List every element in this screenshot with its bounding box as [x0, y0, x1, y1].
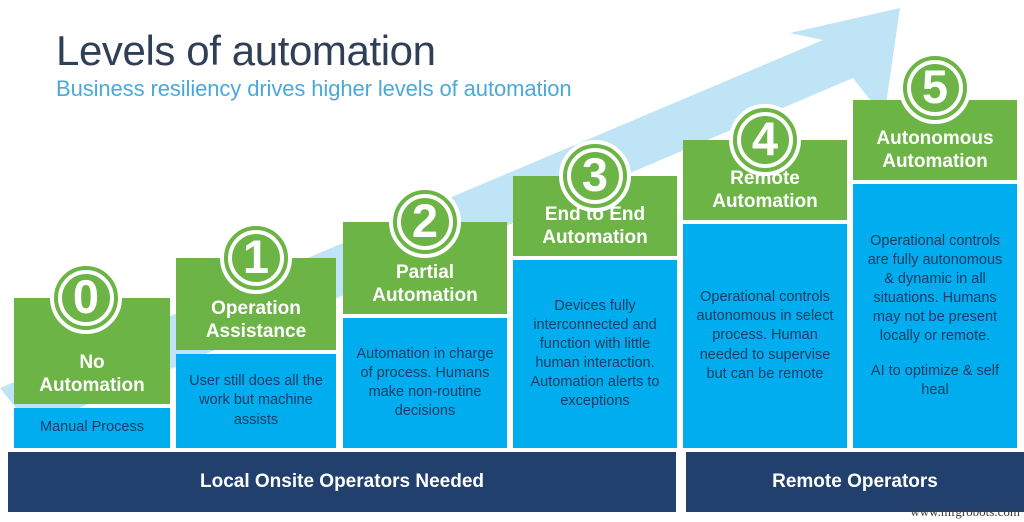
- step-5-header-line2: Automation: [857, 151, 1013, 173]
- level-badge-5-number: 5: [922, 63, 948, 110]
- step-1-body-text-1: User still does all the work but machine…: [184, 372, 328, 429]
- level-badge-4: 4: [729, 104, 801, 176]
- step-0-body-text-1: Manual Process: [40, 418, 144, 437]
- step-5-body-text-2: AI to optimize & self heal: [861, 362, 1009, 400]
- step-3-body-text-1: Devices fully interconnected and functio…: [521, 297, 669, 412]
- step-column-2: 2 Partial Automation Automation in charg…: [343, 186, 507, 448]
- level-badge-3-number: 3: [582, 151, 608, 198]
- step-column-3: 3 End to End Automation Devices fully in…: [513, 140, 677, 448]
- step-2-body: Automation in charge of process. Humans …: [343, 318, 507, 448]
- page-subtitle: Business resiliency drives higher levels…: [56, 78, 572, 100]
- step-0-header-line1: No: [18, 352, 166, 374]
- step-column-4: 4 Remote Automation Operational controls…: [683, 104, 847, 448]
- level-badge-0: 0: [50, 262, 122, 334]
- step-2-header-line2: Automation: [347, 285, 503, 307]
- step-5-body-text-1: Operational controls are fully autonomou…: [861, 232, 1009, 347]
- step-1-header-line1: Operation: [180, 298, 332, 320]
- step-2-header-line1: Partial: [347, 262, 503, 284]
- step-1-body: User still does all the work but machine…: [176, 354, 336, 448]
- step-5-header-line1: Autonomous: [857, 128, 1013, 150]
- level-badge-2: 2: [389, 186, 461, 258]
- infographic-canvas: Levels of automation Business resiliency…: [0, 0, 1024, 522]
- footer-bar-remote-operators: Remote Operators: [686, 452, 1024, 512]
- step-5-body: Operational controls are fully autonomou…: [853, 184, 1017, 448]
- step-3-header-line2: Automation: [517, 227, 673, 249]
- level-badge-3: 3: [559, 140, 631, 212]
- step-2-body-text-1: Automation in charge of process. Humans …: [351, 345, 499, 422]
- step-3-body: Devices fully interconnected and functio…: [513, 260, 677, 448]
- step-4-body: Operational controls autonomous in selec…: [683, 224, 847, 448]
- heading-block: Levels of automation Business resiliency…: [56, 30, 572, 100]
- footer-bar-remote-operators-label: Remote Operators: [772, 471, 938, 493]
- step-4-header-line2: Automation: [687, 191, 843, 213]
- step-column-1: 1 Operation Assistance User still does a…: [176, 222, 336, 448]
- step-column-5: 5 Autonomous Automation Operational cont…: [853, 52, 1017, 448]
- step-4-body-text-1: Operational controls autonomous in selec…: [691, 288, 839, 384]
- level-badge-2-number: 2: [412, 197, 438, 244]
- level-badge-5: 5: [899, 52, 971, 124]
- level-badge-4-number: 4: [752, 115, 778, 162]
- page-title: Levels of automation: [56, 30, 572, 72]
- level-badge-1: 1: [220, 222, 292, 294]
- step-column-0: 0 No Automation Manual Process: [14, 262, 170, 448]
- watermark: www.mfgrobots.com: [910, 504, 1020, 520]
- level-badge-0-number: 0: [73, 273, 99, 320]
- level-badge-1-number: 1: [243, 233, 269, 280]
- step-0-header-line2: Automation: [18, 375, 166, 397]
- step-1-header-line2: Assistance: [180, 321, 332, 343]
- footer-bar-local-operators: Local Onsite Operators Needed: [8, 452, 676, 512]
- footer-bar-local-operators-label: Local Onsite Operators Needed: [200, 471, 484, 493]
- step-0-body: Manual Process: [14, 408, 170, 448]
